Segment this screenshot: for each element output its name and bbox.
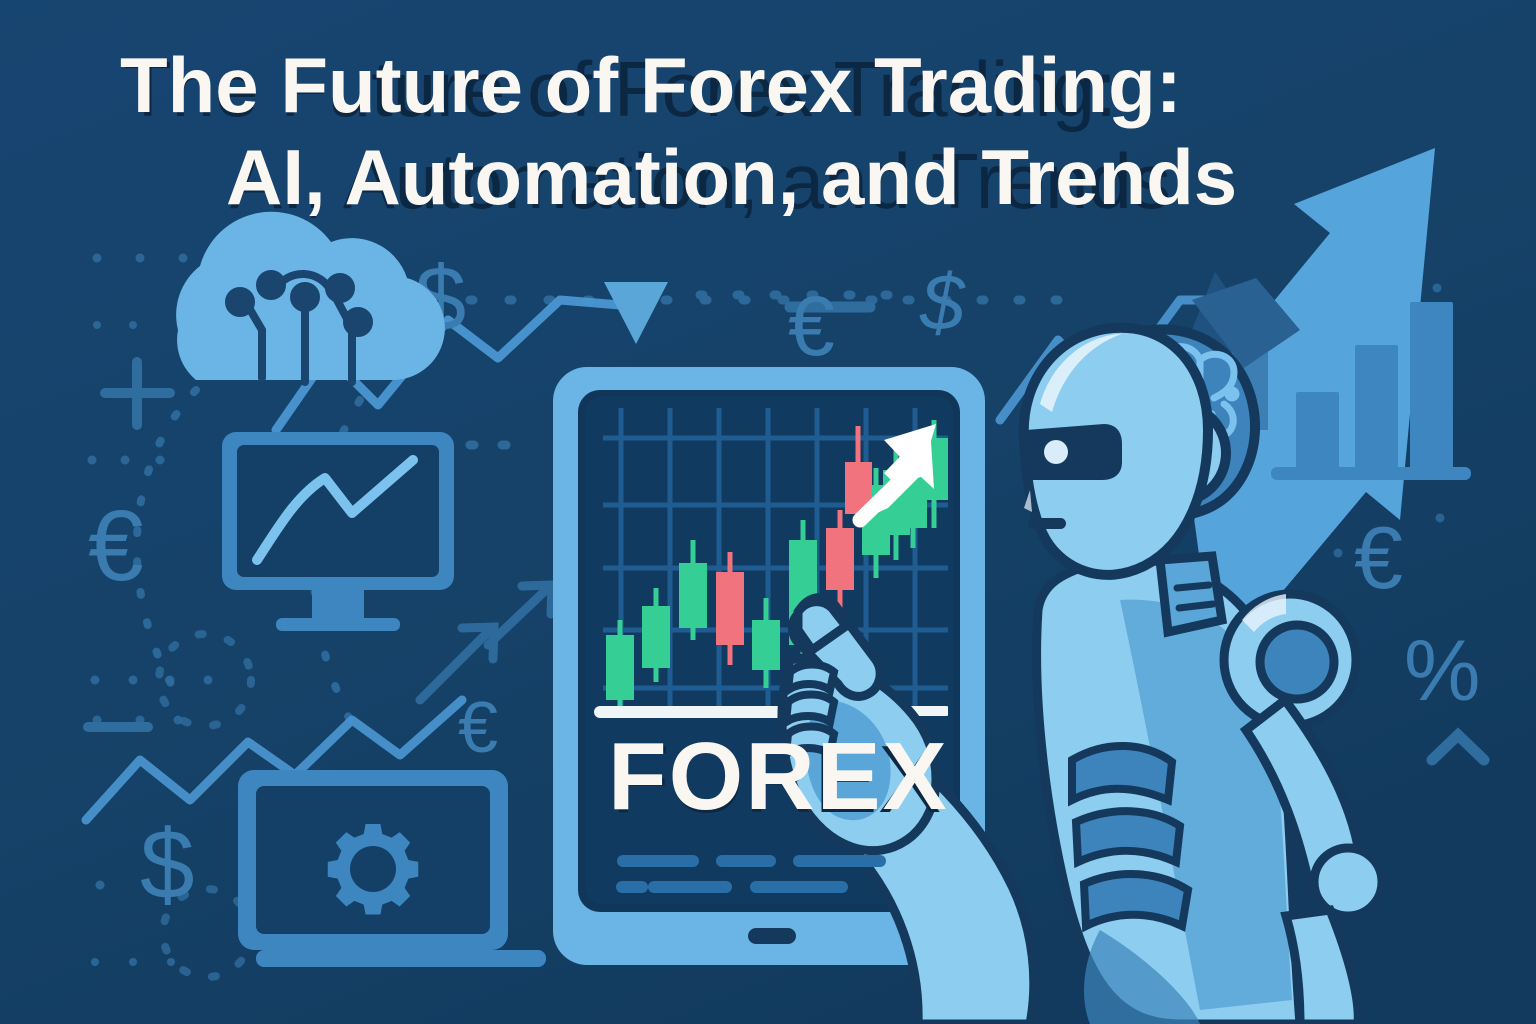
robot-eye <box>1044 440 1068 464</box>
gear-icon <box>328 824 419 915</box>
robot-chest-plates <box>1072 746 1188 926</box>
forex-label: FOREX <box>608 723 949 830</box>
robot-mouth <box>1028 518 1066 529</box>
forex-ai-illustration: $ $ $ € € € € € % <box>0 0 1536 1024</box>
euro-symbol-left-low: € <box>458 688 498 768</box>
title-line2: AI, Automation, and Trends <box>226 133 1237 221</box>
euro-symbol-top: € <box>788 279 835 373</box>
bar-chart-bar-1 <box>1296 392 1339 470</box>
background-layer: $ $ $ € € € € € % <box>0 0 1536 1024</box>
bar-chart-bar-2 <box>1355 345 1398 470</box>
laptop-gear-icon <box>238 770 546 967</box>
dollar-symbol-bottom-left: $ <box>140 809 195 919</box>
bar-chart-bar-3 <box>1410 302 1453 470</box>
dollar-symbol-top-right: $ <box>919 258 966 347</box>
robot-elbow-joint <box>1314 848 1382 916</box>
euro-symbol-left: € <box>88 490 144 602</box>
robot-eye-visor <box>1026 424 1122 480</box>
percent-symbol: % <box>1404 623 1480 719</box>
tablet-home-button[interactable] <box>748 928 796 944</box>
bar-chart-baseline <box>1271 467 1471 480</box>
title-line1: The Future of Forex Trading: <box>120 41 1182 129</box>
robot-neck <box>1160 556 1222 632</box>
euro-symbol-right: € <box>1354 508 1403 607</box>
